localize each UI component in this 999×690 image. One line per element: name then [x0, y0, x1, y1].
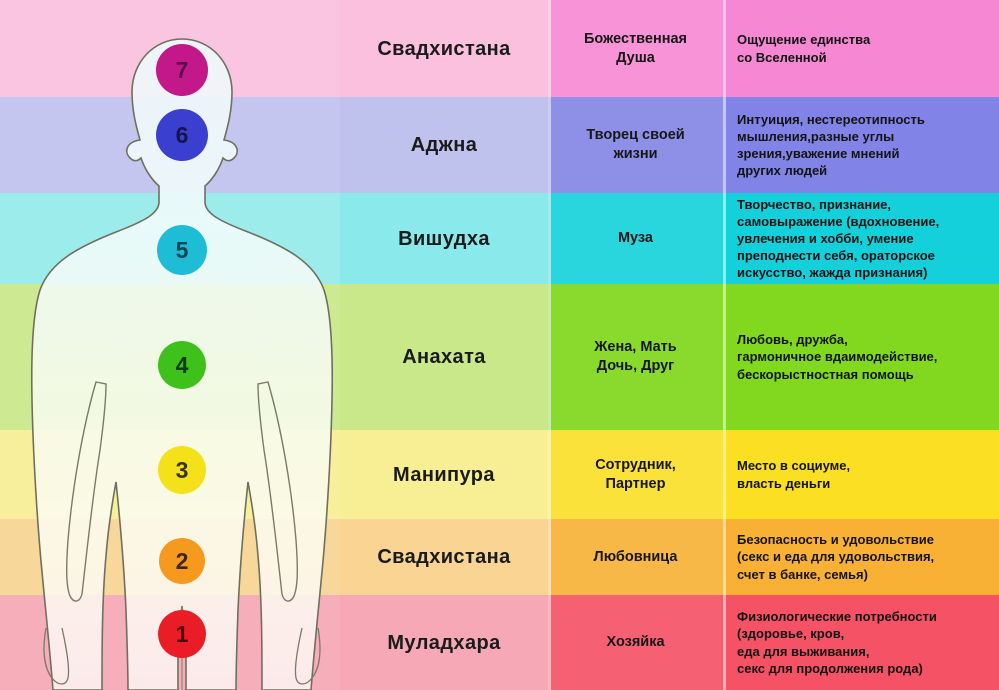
chakra-role-label: Творец своей жизни: [586, 126, 684, 164]
chakra-role-label: Любовница: [594, 548, 678, 567]
chakra-name-cell: Аджна: [340, 97, 548, 193]
column-divider: [723, 595, 726, 690]
chakra-role-cell: Муза: [548, 193, 723, 284]
chakra-row: МанипураСотрудник, ПартнерМесто в социум…: [0, 430, 999, 519]
chakra-role-cell: Творец своей жизни: [548, 97, 723, 193]
chakra-role-label: Жена, Мать Дочь, Друг: [594, 338, 676, 376]
chakra-name-label: Манипура: [393, 463, 495, 487]
chakra-name-label: Вишудха: [398, 227, 490, 251]
chakra-name-label: Аджна: [411, 133, 478, 157]
chakra-description-label: Любовь, дружба, гармоничное вдаимодейств…: [723, 331, 943, 382]
chakra-number-badge: 2: [159, 538, 205, 584]
column-divider: [723, 0, 726, 97]
chakra-description-cell: Место в социуме, власть деньги: [723, 430, 999, 519]
chakra-role-label: Божественная Душа: [584, 30, 687, 68]
chakra-role-label: Муза: [618, 229, 653, 248]
chakra-number-badge: 7: [156, 44, 208, 96]
chakra-number-badge: 5: [157, 225, 207, 275]
chakra-description-label: Творчество, признание, самовыражение (вд…: [723, 196, 945, 282]
chakra-name-label: Анахата: [402, 345, 486, 369]
column-divider: [548, 519, 551, 595]
chakra-number-badge: 4: [158, 341, 206, 389]
column-divider: [548, 193, 551, 284]
chakra-role-cell: Божественная Душа: [548, 0, 723, 97]
chakra-number-badge: 3: [158, 446, 206, 494]
chakra-description-label: Физиологические потребности (здоровье, к…: [723, 608, 943, 677]
chakra-name-cell: Анахата: [340, 284, 548, 430]
chakra-number-badge: 1: [158, 610, 206, 658]
column-divider: [548, 97, 551, 193]
column-divider: [723, 430, 726, 519]
chakra-row: МуладхараХозяйкаФизиологические потребно…: [0, 595, 999, 690]
chakra-description-cell: Физиологические потребности (здоровье, к…: [723, 595, 999, 690]
column-divider: [723, 519, 726, 595]
chakra-role-cell: Любовница: [548, 519, 723, 595]
chakra-diagram: СвадхистанаБожественная ДушаОщущение еди…: [0, 0, 999, 690]
chakra-row: АнахатаЖена, Мать Дочь, ДругЛюбовь, друж…: [0, 284, 999, 430]
column-divider: [548, 0, 551, 97]
chakra-role-cell: Сотрудник, Партнер: [548, 430, 723, 519]
chakra-role-label: Хозяйка: [606, 633, 664, 652]
column-divider: [723, 193, 726, 284]
chakra-description-label: Место в социуме, власть деньги: [723, 457, 856, 491]
column-divider: [548, 284, 551, 430]
chakra-name-cell: Муладхара: [340, 595, 548, 690]
chakra-row: СвадхистанаЛюбовницаБезопасность и удово…: [0, 519, 999, 595]
chakra-row: ВишудхаМузаТворчество, признание, самовы…: [0, 193, 999, 284]
chakra-description-cell: Интуиция, нестереотипность мышления,разн…: [723, 97, 999, 193]
chakra-name-label: Муладхара: [387, 631, 500, 655]
chakra-description-label: Ощущение единства со Вселенной: [723, 31, 876, 65]
chakra-name-cell: Манипура: [340, 430, 548, 519]
column-divider: [723, 284, 726, 430]
chakra-role-label: Сотрудник, Партнер: [595, 456, 676, 494]
chakra-name-label: Свадхистана: [377, 545, 510, 569]
chakra-description-cell: Любовь, дружба, гармоничное вдаимодейств…: [723, 284, 999, 430]
chakra-row: СвадхистанаБожественная ДушаОщущение еди…: [0, 0, 999, 97]
chakra-role-cell: Хозяйка: [548, 595, 723, 690]
chakra-number-badge: 6: [156, 109, 208, 161]
chakra-row: АджнаТворец своей жизниИнтуиция, нестере…: [0, 97, 999, 193]
chakra-description-label: Интуиция, нестереотипность мышления,разн…: [723, 111, 931, 180]
chakra-name-cell: Свадхистана: [340, 0, 548, 97]
chakra-description-cell: Ощущение единства со Вселенной: [723, 0, 999, 97]
chakra-name-label: Свадхистана: [377, 37, 510, 61]
column-divider: [548, 595, 551, 690]
chakra-description-cell: Безопасность и удовольствие (секс и еда …: [723, 519, 999, 595]
chakra-name-cell: Вишудха: [340, 193, 548, 284]
chakra-name-cell: Свадхистана: [340, 519, 548, 595]
chakra-description-cell: Творчество, признание, самовыражение (вд…: [723, 193, 999, 284]
column-divider: [548, 430, 551, 519]
chakra-role-cell: Жена, Мать Дочь, Друг: [548, 284, 723, 430]
column-divider: [723, 97, 726, 193]
chakra-description-label: Безопасность и удовольствие (секс и еда …: [723, 531, 940, 582]
